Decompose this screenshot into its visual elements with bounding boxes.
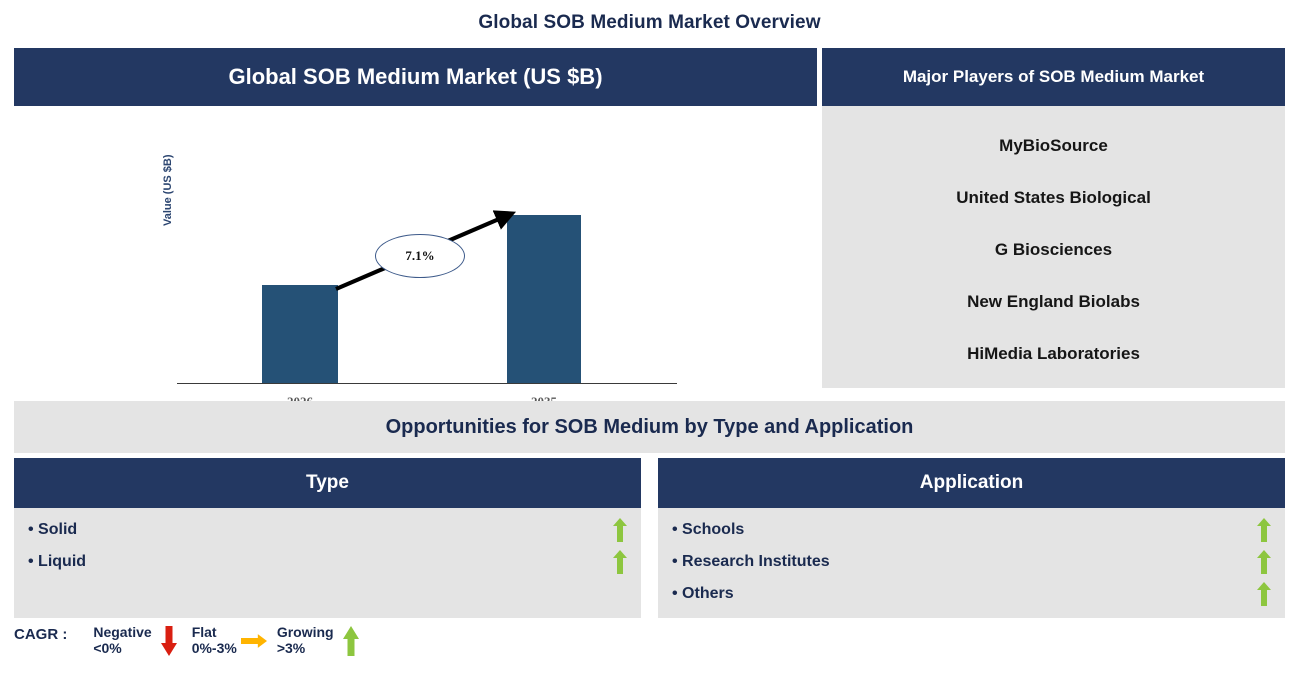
- chart-panel: Global SOB Medium Market (US $B) Value (…: [14, 48, 817, 388]
- legend-entry-growing: Growing >3%: [277, 624, 368, 658]
- cagr-legend: CAGR : Negative <0% Flat 0%-3%: [14, 624, 374, 670]
- list-item-label: • Solid: [28, 521, 77, 539]
- arrow-up-icon: [1257, 582, 1271, 606]
- application-column: Application • Schools • Research Institu…: [658, 458, 1285, 618]
- legend-entry-name: Negative: [93, 624, 151, 640]
- list-item: HiMedia Laboratories: [822, 328, 1285, 380]
- major-players-panel: Major Players of SOB Medium Market MyBio…: [822, 48, 1285, 388]
- arrow-up-icon: [338, 624, 364, 658]
- arrow-up-icon: [1257, 550, 1271, 574]
- bar-2026: [262, 285, 338, 383]
- top-row: Global SOB Medium Market (US $B) Value (…: [14, 48, 1285, 388]
- list-item: • Research Institutes: [658, 546, 1285, 578]
- arrow-right-icon: [241, 624, 267, 658]
- legend-entry-range: <0%: [93, 640, 151, 656]
- chart-panel-header: Global SOB Medium Market (US $B): [14, 48, 817, 106]
- legend-entry-name: Growing: [277, 624, 334, 640]
- list-item: United States Biological: [822, 172, 1285, 224]
- application-column-header: Application: [658, 458, 1285, 508]
- arrow-down-icon: [156, 624, 182, 658]
- y-axis-label: Value (US $B): [162, 154, 174, 226]
- opportunities-band: Opportunities for SOB Medium by Type and…: [14, 401, 1285, 453]
- arrow-up-icon: [613, 550, 627, 574]
- page-title: Global SOB Medium Market Overview: [0, 12, 1299, 34]
- cagr-callout: 7.1%: [375, 234, 465, 278]
- list-item: • Solid: [14, 514, 641, 546]
- arrow-up-icon: [1257, 518, 1271, 542]
- type-column-body: • Solid • Liquid: [14, 508, 641, 618]
- legend-entry-text: Flat 0%-3%: [192, 624, 237, 656]
- list-item: • Liquid: [14, 546, 641, 578]
- arrow-up-icon: [613, 518, 627, 542]
- type-column: Type • Solid • Liquid: [14, 458, 641, 618]
- opportunities-columns: Type • Solid • Liquid Application: [14, 458, 1285, 618]
- legend-entry-range: >3%: [277, 640, 334, 656]
- bar-2035: [507, 215, 581, 383]
- players-list: MyBioSource United States Biological G B…: [822, 106, 1285, 380]
- legend-entry-text: Negative <0%: [93, 624, 151, 656]
- list-item: • Others: [658, 578, 1285, 610]
- list-item-label: • Liquid: [28, 553, 86, 571]
- list-item: G Biosciences: [822, 224, 1285, 276]
- infographic-page: Global SOB Medium Market Overview Global…: [0, 0, 1299, 677]
- players-panel-header: Major Players of SOB Medium Market: [822, 48, 1285, 106]
- type-column-header: Type: [14, 458, 641, 508]
- bar-chart: Value (US $B) 2026 2035 7.1% Source : Lu…: [14, 106, 817, 388]
- list-item-label: • Research Institutes: [672, 553, 830, 571]
- list-item: • Schools: [658, 514, 1285, 546]
- legend-entry-range: 0%-3%: [192, 640, 237, 656]
- cagr-legend-label: CAGR :: [14, 624, 67, 643]
- legend-entry-flat: Flat 0%-3%: [192, 624, 271, 658]
- application-column-body: • Schools • Research Institutes • Others: [658, 508, 1285, 618]
- list-item: MyBioSource: [822, 120, 1285, 172]
- list-item-label: • Others: [672, 585, 734, 603]
- legend-entry-name: Flat: [192, 624, 217, 640]
- legend-entry-text: Growing >3%: [277, 624, 334, 656]
- legend-entry-negative: Negative <0%: [93, 624, 185, 658]
- x-axis-line: [177, 383, 677, 384]
- list-item-label: • Schools: [672, 521, 744, 539]
- list-item: New England Biolabs: [822, 276, 1285, 328]
